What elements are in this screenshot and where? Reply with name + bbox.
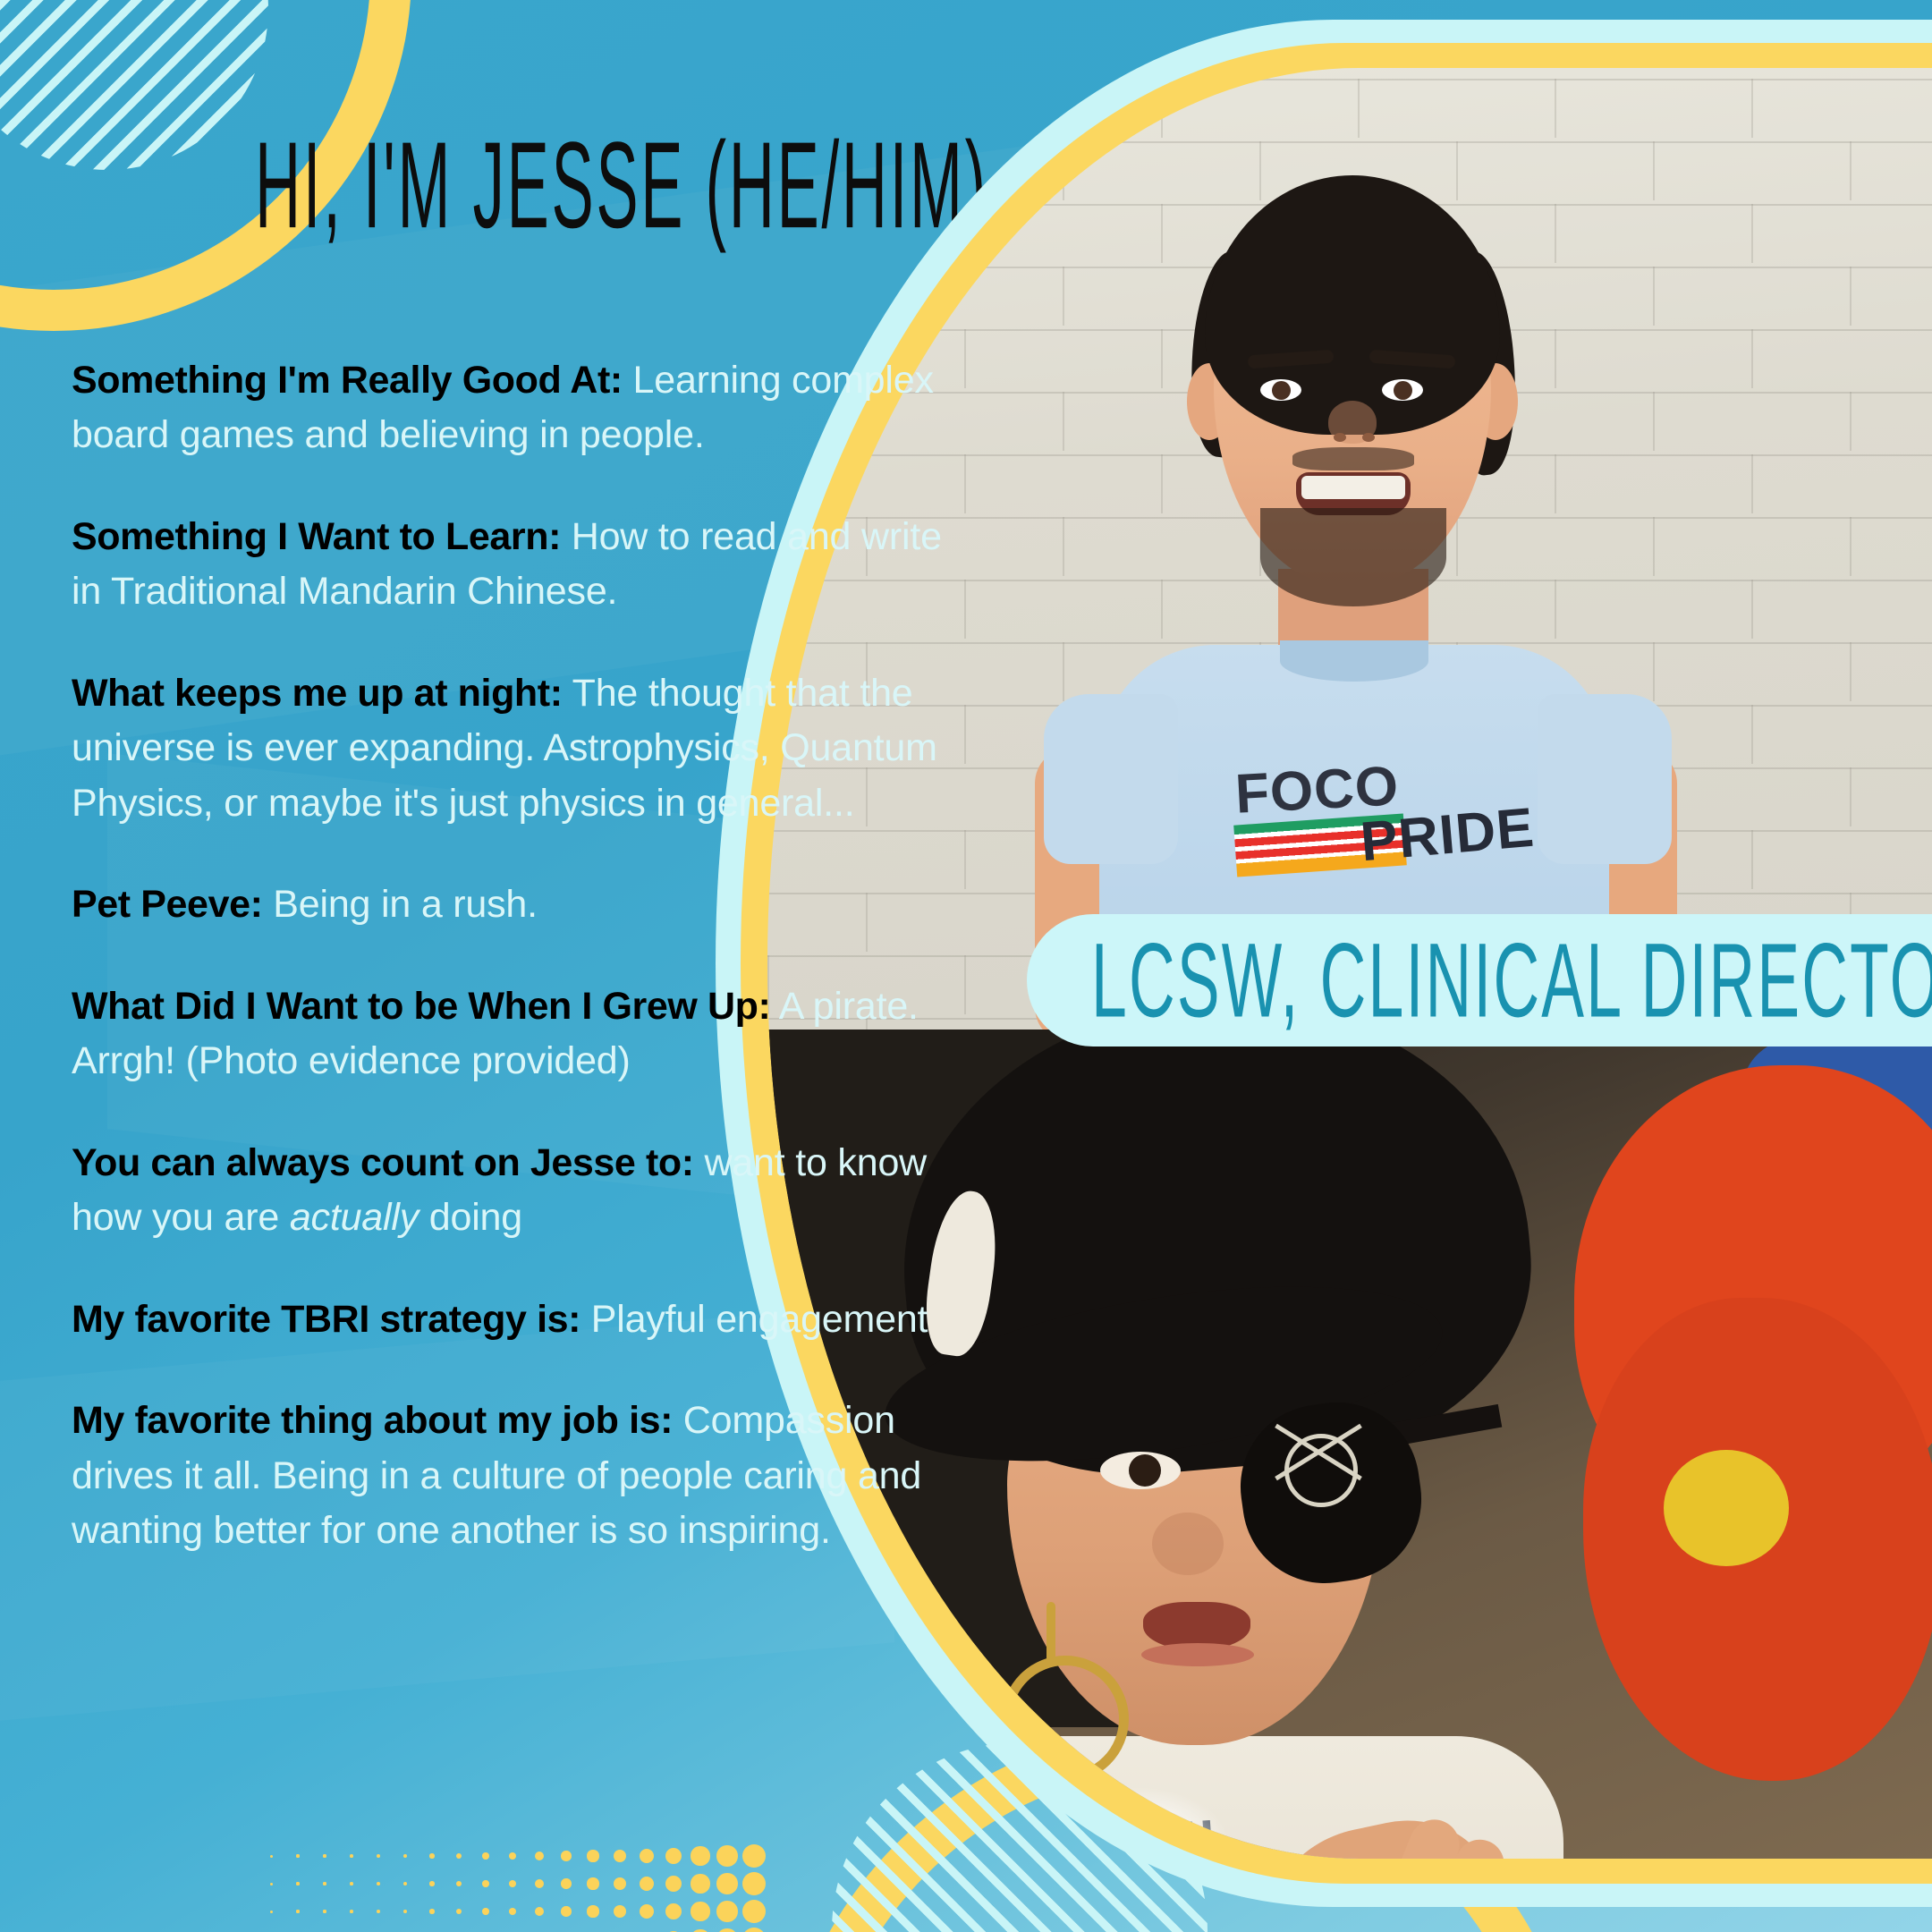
bio-item: Pet Peeve: Being in a rush. bbox=[72, 877, 975, 932]
halftone-dot bbox=[716, 1845, 738, 1867]
eyepatch-skull bbox=[1284, 1434, 1358, 1507]
job-title-text: LCSW, CLINICAL DIRECTOR bbox=[1091, 919, 1932, 1041]
halftone-dot bbox=[716, 1928, 738, 1932]
brick-mortar-joint bbox=[767, 79, 769, 138]
halftone-dot bbox=[377, 1910, 380, 1913]
child-eye bbox=[1100, 1452, 1181, 1489]
brick-mortar-joint bbox=[767, 204, 769, 263]
bio-item-label: My favorite thing about my job is: bbox=[72, 1399, 673, 1442]
halftone-dot bbox=[665, 1903, 682, 1920]
bio-item: What Did I Want to be When I Grew Up: A … bbox=[72, 979, 975, 1089]
halftone-dot bbox=[587, 1850, 598, 1861]
background-prop-yellow bbox=[1664, 1450, 1789, 1566]
bio-item-answer: Playful engagement bbox=[580, 1298, 928, 1341]
halftone-dot bbox=[535, 1851, 544, 1860]
halftone-dot bbox=[482, 1880, 489, 1887]
adult-figure: FOCO PRIDE bbox=[831, 68, 1886, 1030]
job-title-banner: LCSW, CLINICAL DIRECTOR bbox=[1027, 914, 1932, 1046]
halftone-dot bbox=[270, 1883, 273, 1885]
halftone-dot bbox=[691, 1846, 709, 1865]
halftone-dot bbox=[561, 1878, 572, 1889]
bio-item-label: You can always count on Jesse to: bbox=[72, 1141, 694, 1184]
bio-text-column: Something I'm Really Good At: Learning c… bbox=[72, 353, 975, 1606]
eye-right bbox=[1382, 379, 1423, 401]
teeth bbox=[1301, 476, 1405, 499]
bio-item-label: What keeps me up at night: bbox=[72, 672, 563, 715]
photo-glare bbox=[1049, 1788, 1228, 1859]
child-lower-lip bbox=[1141, 1643, 1254, 1666]
halftone-dot bbox=[535, 1879, 544, 1888]
halftone-dots-decor bbox=[259, 1844, 778, 1932]
halftone-dot bbox=[296, 1854, 299, 1857]
bio-item-label: My favorite TBRI strategy is: bbox=[72, 1298, 580, 1341]
halftone-dot bbox=[640, 1877, 655, 1892]
child-nose bbox=[1152, 1513, 1224, 1575]
halftone-dot bbox=[403, 1854, 408, 1859]
sleeve-right bbox=[1538, 694, 1672, 864]
moustache bbox=[1292, 447, 1414, 470]
halftone-dot bbox=[509, 1852, 517, 1860]
halftone-dot bbox=[535, 1907, 544, 1916]
halftone-dot bbox=[350, 1854, 353, 1858]
halftone-dot bbox=[691, 1874, 709, 1893]
halftone-dot bbox=[270, 1911, 273, 1913]
halftone-dot bbox=[456, 1853, 462, 1859]
halftone-dot bbox=[640, 1849, 655, 1864]
nostril-right bbox=[1362, 433, 1375, 442]
halftone-dot bbox=[482, 1908, 489, 1915]
halftone-dot bbox=[270, 1855, 273, 1858]
bio-item-label: Pet Peeve: bbox=[72, 883, 263, 926]
nostril-left bbox=[1334, 433, 1346, 442]
halftone-dot bbox=[323, 1910, 326, 1912]
halftone-dot bbox=[691, 1902, 709, 1920]
bio-item: My favorite thing about my job is: Compa… bbox=[72, 1394, 975, 1558]
halftone-dot bbox=[350, 1910, 353, 1913]
halftone-dot bbox=[665, 1876, 682, 1893]
halftone-dot bbox=[614, 1905, 627, 1919]
halftone-dot bbox=[482, 1852, 489, 1860]
halftone-dot bbox=[587, 1877, 598, 1889]
shirt-collar bbox=[1280, 640, 1428, 682]
bio-item: Something I'm Really Good At: Learning c… bbox=[72, 353, 975, 463]
halftone-dot bbox=[456, 1881, 462, 1886]
bio-item-answer: Being in a rush. bbox=[263, 883, 538, 926]
halftone-dot bbox=[456, 1909, 462, 1914]
halftone-dot bbox=[742, 1900, 766, 1923]
earring-chain bbox=[1046, 1602, 1055, 1665]
halftone-dot bbox=[509, 1908, 517, 1916]
halftone-dot bbox=[403, 1882, 408, 1886]
halftone-dot bbox=[377, 1854, 380, 1858]
halftone-dot bbox=[561, 1851, 572, 1861]
eye-left bbox=[1260, 379, 1301, 401]
halftone-dot bbox=[296, 1910, 299, 1912]
bio-item-answer: doing bbox=[419, 1196, 522, 1239]
halftone-dot bbox=[742, 1844, 766, 1868]
halftone-dot bbox=[614, 1850, 627, 1863]
hoop-earring bbox=[1002, 1656, 1129, 1783]
bio-item-label: Something I'm Really Good At: bbox=[72, 359, 623, 402]
hair bbox=[1205, 175, 1500, 435]
bio-item: Something I Want to Learn: How to read a… bbox=[72, 510, 975, 620]
halftone-dot bbox=[614, 1877, 627, 1891]
halftone-dot bbox=[296, 1882, 299, 1885]
halftone-dot bbox=[403, 1910, 408, 1914]
sleeve-left bbox=[1044, 694, 1178, 864]
halftone-dot bbox=[561, 1906, 572, 1917]
halftone-dot bbox=[640, 1904, 655, 1919]
halftone-dot bbox=[429, 1909, 435, 1914]
beard bbox=[1260, 508, 1446, 606]
halftone-dot bbox=[350, 1882, 353, 1885]
halftone-dot bbox=[509, 1880, 517, 1888]
halftone-dot bbox=[742, 1872, 766, 1895]
halftone-dot bbox=[323, 1854, 326, 1857]
bio-item-label: What Did I Want to be When I Grew Up: bbox=[72, 985, 770, 1028]
bio-item: What keeps me up at night: The thought t… bbox=[72, 666, 975, 831]
halftone-dot bbox=[716, 1901, 738, 1922]
halftone-dot bbox=[323, 1882, 326, 1885]
bio-item: You can always count on Jesse to: want t… bbox=[72, 1136, 975, 1246]
halftone-dot bbox=[665, 1848, 682, 1865]
halftone-dot bbox=[587, 1905, 598, 1917]
halftone-dot bbox=[429, 1881, 435, 1886]
halftone-dot bbox=[429, 1853, 435, 1859]
bio-item: My favorite TBRI strategy is: Playful en… bbox=[72, 1292, 975, 1347]
profile-poster: HI, I'M JESSE (HE/HIM) bbox=[0, 0, 1932, 1932]
bio-item-answer-emphasis: actually bbox=[290, 1196, 419, 1239]
halftone-dot bbox=[742, 1928, 766, 1932]
halftone-dot bbox=[716, 1873, 738, 1894]
halftone-dot bbox=[377, 1882, 380, 1885]
bio-item-label: Something I Want to Learn: bbox=[72, 515, 561, 558]
